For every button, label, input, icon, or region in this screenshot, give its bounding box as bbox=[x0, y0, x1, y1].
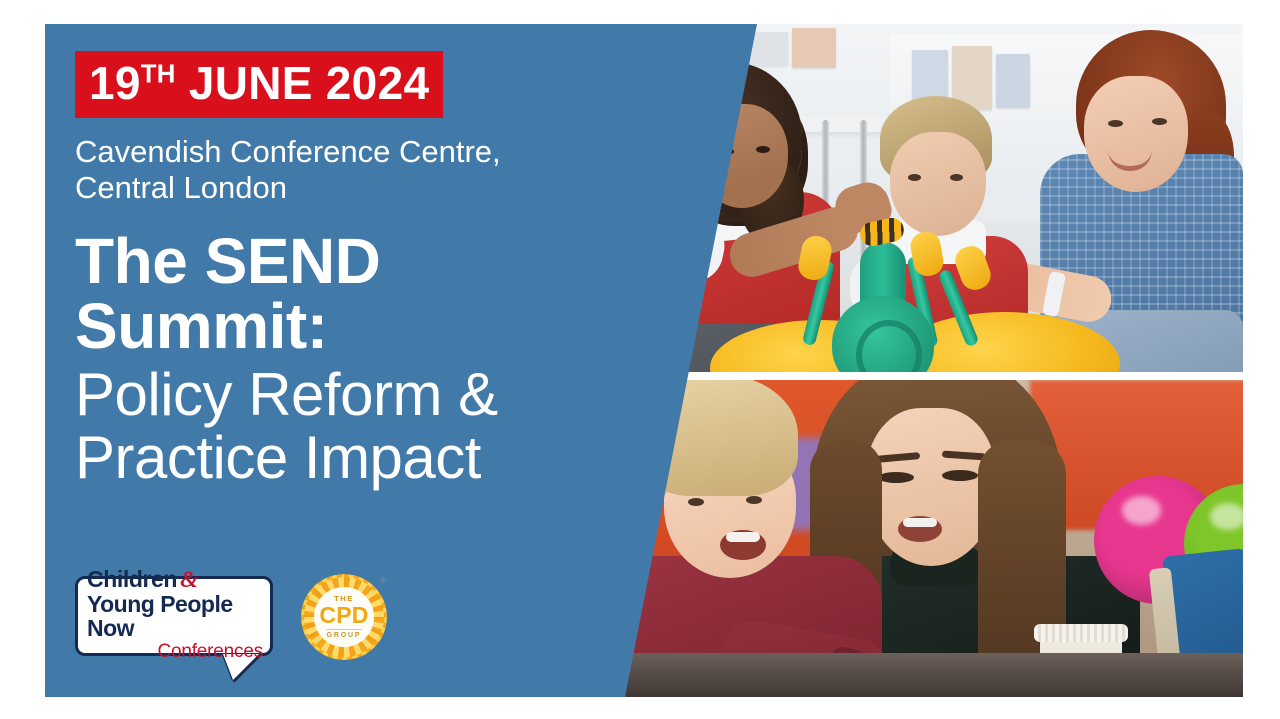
registered-trademark-icon: ® bbox=[380, 576, 386, 585]
date-day: 19 bbox=[89, 57, 141, 109]
title-line-3: Policy Reform & bbox=[75, 363, 675, 426]
logo-row: Children & Young People Now Conferences … bbox=[75, 576, 387, 660]
date-month-year: JUNE 2024 bbox=[189, 57, 430, 109]
cypn-word-children: Children bbox=[87, 568, 177, 591]
event-title-sub: Policy Reform & Practice Impact bbox=[75, 363, 675, 489]
cpd-label-cpd: CPD bbox=[319, 604, 368, 627]
text-content: 19TH JUNE 2024 Cavendish Conference Cent… bbox=[75, 24, 675, 489]
title-line-4: Practice Impact bbox=[75, 426, 675, 489]
event-banner: 19TH JUNE 2024 Cavendish Conference Cent… bbox=[0, 0, 1280, 719]
date-ordinal: TH bbox=[141, 61, 176, 89]
cypn-word-young-people-now: Young People Now bbox=[87, 592, 263, 641]
venue-block: Cavendish Conference Centre, Central Lon… bbox=[75, 134, 595, 207]
title-line-1: The SEND bbox=[75, 229, 675, 294]
cpd-label-group: GROUP bbox=[327, 632, 362, 639]
cpd-divider bbox=[326, 629, 362, 631]
cypn-ampersand: & bbox=[180, 568, 198, 591]
cypn-conferences-logo: Children & Young People Now Conferences bbox=[75, 576, 273, 656]
venue-line-1: Cavendish Conference Centre, bbox=[75, 134, 595, 170]
title-line-2: Summit: bbox=[75, 294, 675, 359]
venue-line-2: Central London bbox=[75, 170, 595, 206]
date-badge: 19TH JUNE 2024 bbox=[75, 51, 443, 118]
event-title-main: The SEND Summit: bbox=[75, 229, 675, 360]
cypn-word-conferences: Conferences bbox=[87, 642, 263, 662]
cpd-group-logo: THE CPD GROUP ® bbox=[301, 574, 387, 660]
